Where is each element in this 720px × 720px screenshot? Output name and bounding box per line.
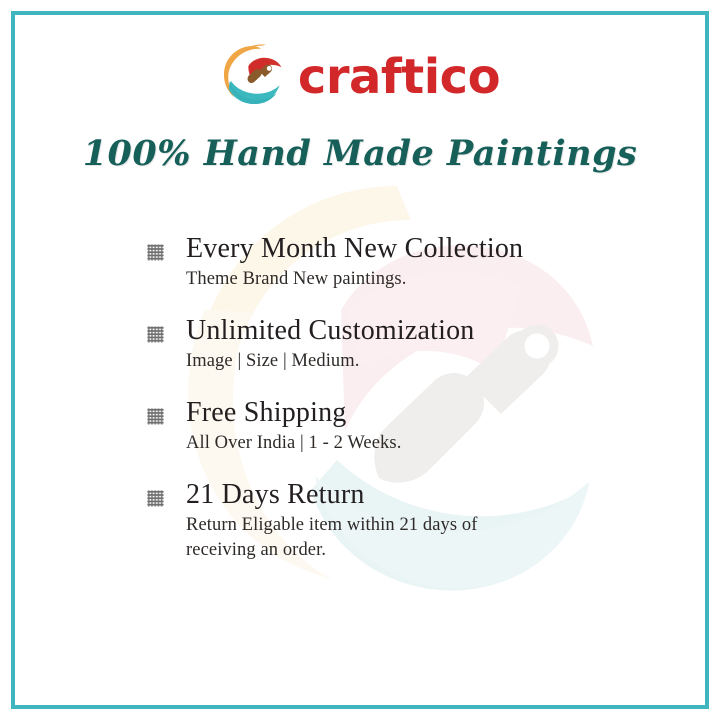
brand-name: craftico bbox=[298, 53, 500, 101]
woven-grid-bullet-icon bbox=[146, 243, 165, 262]
woven-grid-bullet-icon bbox=[146, 489, 165, 508]
page-title: 100% Hand Made Paintings bbox=[0, 133, 720, 174]
feature-title: 21 Days Return bbox=[186, 478, 626, 512]
woven-grid-bullet-icon bbox=[146, 325, 165, 344]
woven-grid-bullet-icon bbox=[146, 407, 165, 426]
list-item: 21 Days Return Return Eligable item with… bbox=[146, 478, 626, 563]
feature-title: Unlimited Customization bbox=[186, 314, 626, 348]
list-item: Free Shipping All Over India | 1 - 2 Wee… bbox=[146, 396, 626, 456]
feature-subtitle: All Over India | 1 - 2 Weeks. bbox=[186, 431, 626, 456]
promo-poster: craftico 100% Hand Made Paintings bbox=[0, 0, 720, 720]
feature-list: Every Month New Collection Theme Brand N… bbox=[146, 232, 626, 563]
feature-title: Free Shipping bbox=[186, 396, 626, 430]
feature-subtitle: Theme Brand New paintings. bbox=[186, 267, 626, 292]
list-item: Unlimited Customization Image | Size | M… bbox=[146, 314, 626, 374]
list-item: Every Month New Collection Theme Brand N… bbox=[146, 232, 626, 292]
brand-lockup: craftico bbox=[0, 33, 720, 117]
craftico-c-brush-logo-icon bbox=[220, 42, 286, 108]
feature-title: Every Month New Collection bbox=[186, 232, 626, 266]
feature-subtitle: Image | Size | Medium. bbox=[186, 349, 626, 374]
feature-subtitle: Return Eligable item within 21 days of r… bbox=[186, 513, 536, 563]
